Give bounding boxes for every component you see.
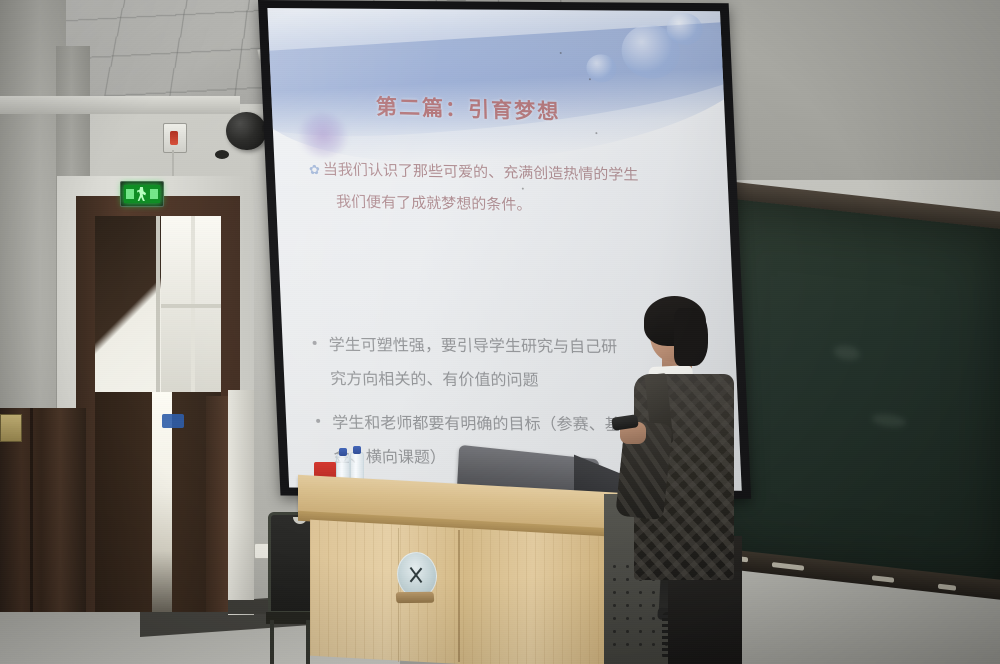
bullet-dot-icon — [316, 419, 320, 423]
running-man-icon — [137, 187, 146, 201]
door-glass — [95, 216, 221, 392]
door-open-gap — [152, 392, 172, 612]
chalk-piece[interactable] — [872, 575, 894, 582]
exit-sign-panel — [124, 185, 160, 203]
wall-soffit — [0, 96, 240, 114]
wall-jamb — [228, 390, 254, 615]
bullet-dot-icon — [313, 341, 317, 345]
university-crest-icon — [394, 551, 438, 607]
slide-bullet-2-line1: 学生和老师都要有明确的目标（参赛、基 — [332, 413, 621, 434]
crest-scroll — [396, 592, 435, 604]
exit-sign-glyph-left — [126, 189, 134, 199]
podium — [298, 470, 628, 664]
slide-paragraph: ✿当我们认识了那些可爱的、充满创造热情的学生 我们便有了成就梦想的条件。 — [308, 154, 711, 223]
wall-speaker-icon — [226, 112, 266, 150]
chalk-smudge — [872, 413, 906, 429]
slide-title: 第二篇：引育梦想 — [376, 91, 561, 126]
corridor-sign-icon — [162, 414, 184, 428]
screen-speck — [560, 52, 562, 54]
slide-bubble-decor — [666, 13, 704, 45]
door-glass-sill — [161, 304, 221, 308]
presenter-hair-back — [674, 308, 708, 366]
screen-speck — [595, 132, 597, 134]
chalk-smudge — [834, 344, 860, 361]
speaker-secondary — [215, 150, 229, 159]
fire-alarm-icon — [163, 123, 187, 153]
presenter — [612, 300, 742, 664]
emergency-exit-sign — [120, 181, 164, 207]
chalkboard — [706, 196, 1000, 592]
chair-leg — [270, 620, 274, 664]
crest-crossed-tools-icon — [407, 565, 425, 584]
door-plate-sign — [0, 414, 22, 442]
slide-bullet-marker: ✿ — [309, 163, 320, 178]
chalk-piece[interactable] — [772, 562, 804, 571]
door-jamb-right — [206, 396, 228, 612]
classroom-photo: 第二篇：引育梦想 ✿当我们认识了那些可爱的、充满创造热情的学生 我们便有了成就梦… — [0, 0, 1000, 664]
exit-sign-glyph-right — [150, 189, 158, 199]
slide-bullet-1-line1: 学生可塑性强，要引导学生研究与自己研 — [328, 335, 617, 356]
fire-alarm-led — [170, 131, 178, 145]
slide-paragraph-line2: 我们便有了成就梦想的条件。 — [336, 186, 712, 222]
bottle-cap — [339, 448, 347, 456]
screen-speck — [589, 78, 591, 80]
presenter-legs — [668, 572, 740, 664]
bottle-cap — [353, 446, 361, 454]
slide-paragraph-line1: 当我们认识了那些可爱的、充满创造热情的学生 — [323, 160, 639, 183]
chalk-piece[interactable] — [938, 584, 956, 591]
podium-seam — [458, 530, 460, 662]
